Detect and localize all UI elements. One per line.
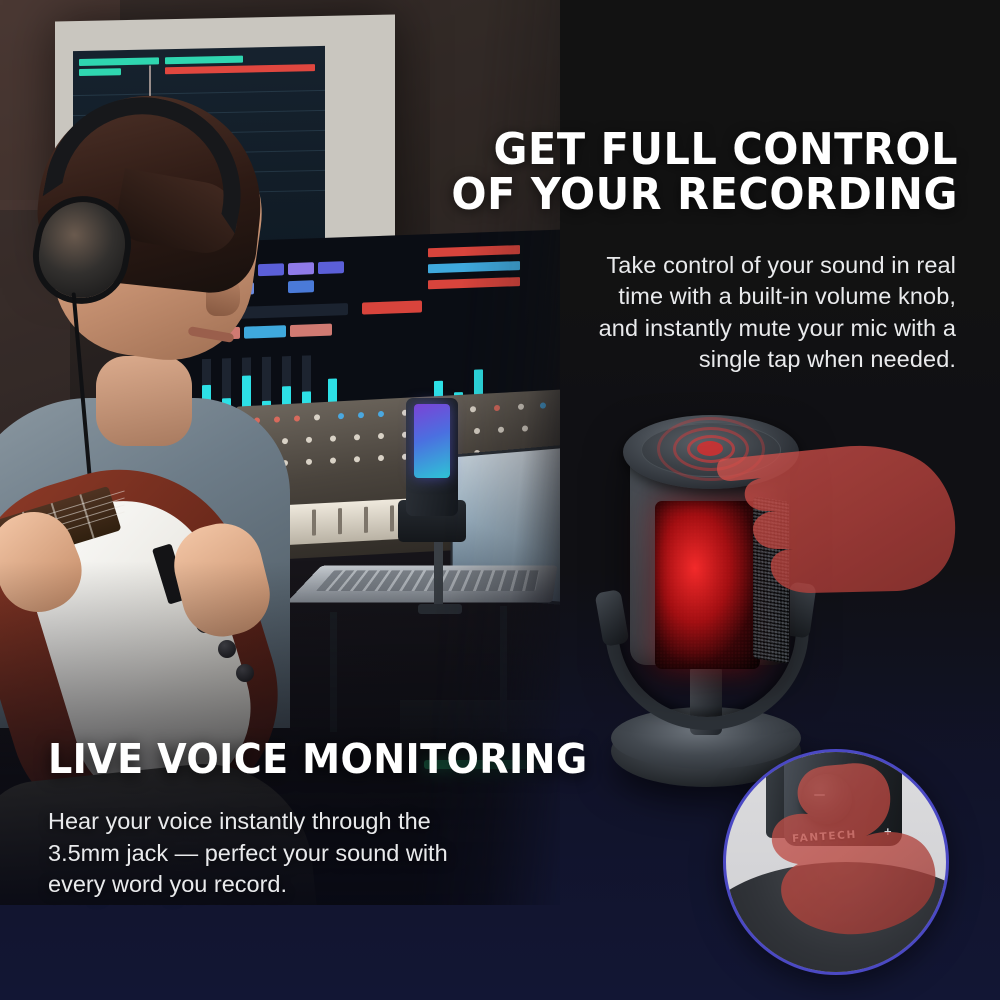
body-line: every word you record. bbox=[48, 869, 518, 901]
headline-line-1: GET FULL CONTROL bbox=[432, 128, 958, 173]
person-eye bbox=[175, 251, 215, 273]
person-hair bbox=[31, 85, 272, 297]
person-hair-fringe bbox=[113, 168, 243, 258]
inset-hand-icon bbox=[748, 758, 949, 968]
inset-volume-knob-closeup: FANTECH + bbox=[723, 749, 949, 975]
wall-panel bbox=[0, 0, 120, 210]
body-line: single tap when needed. bbox=[526, 344, 956, 375]
laptop-keys bbox=[316, 570, 540, 591]
person-eyebrow bbox=[168, 231, 227, 252]
body-line: time with a built-in volume knob, bbox=[526, 281, 956, 312]
laptop-screen bbox=[450, 445, 560, 606]
headphones-band bbox=[43, 80, 258, 233]
person-head bbox=[42, 107, 273, 371]
headphones-earcup bbox=[32, 195, 131, 304]
person-hand-fretting bbox=[0, 500, 94, 624]
photo-mic-rgb-grille bbox=[414, 404, 450, 478]
guitar-knob bbox=[236, 664, 254, 682]
wall-panel bbox=[0, 200, 70, 440]
body-line: 3.5mm jack — perfect your sound with bbox=[48, 838, 518, 870]
console-fader-strip bbox=[250, 491, 552, 547]
pointing-hand-icon bbox=[715, 433, 965, 633]
body-line: Take control of your sound in real bbox=[526, 250, 956, 281]
photo-mic-base bbox=[418, 604, 462, 614]
headline-live-voice-monitoring: LIVE VOICE MONITORING bbox=[48, 739, 588, 780]
person-neck bbox=[96, 356, 192, 446]
body-get-full-control: Take control of your sound in real time … bbox=[526, 250, 956, 375]
photo-mic-stand bbox=[434, 540, 443, 612]
mixer-monitor bbox=[178, 229, 560, 438]
body-line: Hear your voice instantly through the bbox=[48, 806, 518, 838]
headline-get-full-control: GET FULL CONTROL OF YOUR RECORDING bbox=[432, 128, 958, 218]
poster-canvas: GET FULL CONTROL OF YOUR RECORDING Take … bbox=[0, 0, 1000, 1000]
daw-monitor bbox=[55, 14, 395, 271]
guitar-knob bbox=[218, 640, 236, 658]
guitar-pickup bbox=[188, 571, 224, 632]
person-hand-strumming bbox=[166, 515, 278, 645]
person-torso bbox=[0, 398, 290, 728]
headphones-cable bbox=[72, 292, 97, 531]
guitar-knob bbox=[196, 615, 214, 633]
daw-monitor-screen bbox=[73, 46, 325, 251]
headline-line-2: OF YOUR RECORDING bbox=[432, 173, 958, 218]
photo-mic-body bbox=[406, 398, 458, 516]
mixing-console bbox=[236, 389, 560, 561]
photo-mic-mount bbox=[398, 500, 466, 542]
laptop-keyboard bbox=[286, 565, 557, 602]
body-line: and instantly mute your mic with a bbox=[526, 313, 956, 344]
person-nose bbox=[206, 274, 240, 316]
body-live-voice-monitoring: Hear your voice instantly through the 3.… bbox=[48, 806, 518, 901]
guitar-neck bbox=[0, 486, 121, 600]
guitar-pickup bbox=[152, 543, 188, 604]
person-lips bbox=[188, 326, 235, 343]
guitar-body bbox=[0, 438, 308, 854]
yoke-band bbox=[595, 589, 630, 647]
